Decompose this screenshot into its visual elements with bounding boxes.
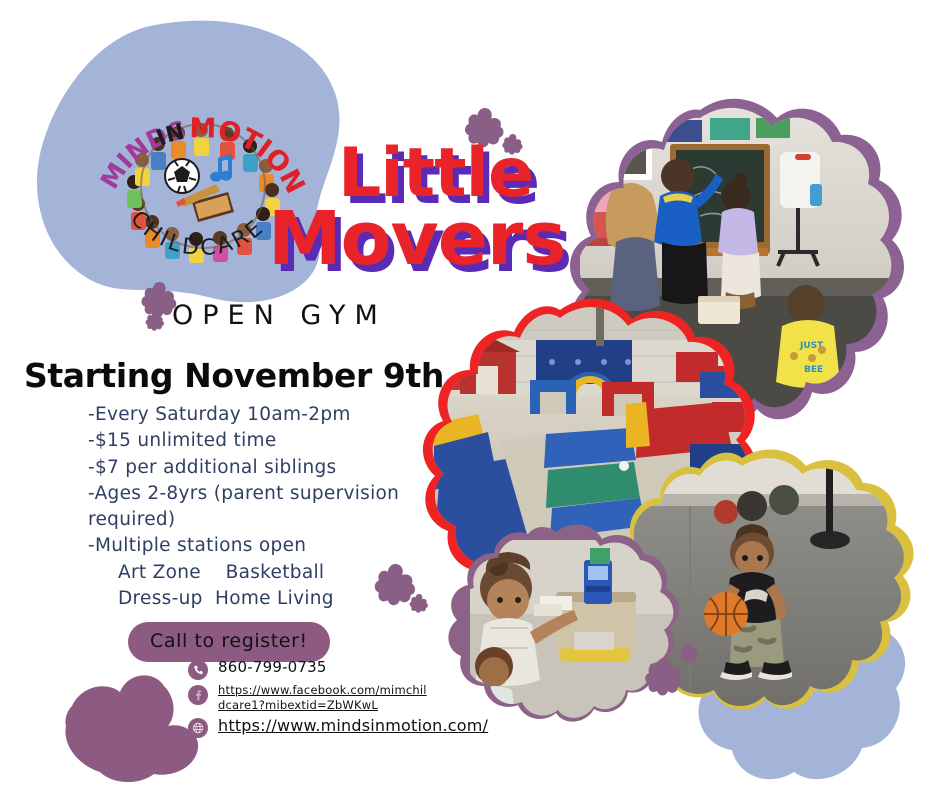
page-title-starting-date: Starting November 9th xyxy=(24,356,444,395)
contact-row-phone[interactable]: 860-799-0735 xyxy=(188,658,518,680)
svg-text:BEE: BEE xyxy=(804,365,823,375)
logo-center-icons xyxy=(165,154,234,222)
website-url[interactable]: https://www.mindsinmotion.com/ xyxy=(218,716,488,736)
background-blob-bottom-left xyxy=(65,675,198,782)
station-line: Art Zone Basketball xyxy=(88,560,428,586)
contact-row-website[interactable]: https://www.mindsinmotion.com/ xyxy=(188,716,518,738)
detail-line: -Ages 2-8yrs (parent supervision xyxy=(88,481,428,507)
facebook-url[interactable]: https://www.facebook.com/mimchildcare1?m… xyxy=(218,683,433,713)
phone-number: 860-799-0735 xyxy=(218,658,327,677)
title-line-movers: Movers xyxy=(268,202,565,276)
facebook-icon xyxy=(188,685,208,705)
contact-row-facebook[interactable]: https://www.facebook.com/mimchildcare1?m… xyxy=(188,683,518,713)
globe-icon xyxy=(188,718,208,738)
contact-list: 860-799-0735 https://www.facebook.com/mi… xyxy=(188,658,518,741)
station-line: Dress-up Home Living xyxy=(88,586,428,612)
detail-line: -$15 unlimited time xyxy=(88,428,428,454)
call-to-register-button[interactable]: Call to register! xyxy=(128,622,330,662)
detail-line: -$7 per additional siblings xyxy=(88,455,428,481)
subtitle-open-gym: OPEN GYM xyxy=(172,300,387,331)
phone-icon xyxy=(188,660,208,680)
flyer-canvas: JUST BEE xyxy=(0,0,940,788)
flyer-title: Little Movers xyxy=(268,140,598,310)
detail-line: required) xyxy=(88,507,428,533)
details-list: -Every Saturday 10am-2pm -$15 unlimited … xyxy=(88,402,428,612)
detail-line: -Multiple stations open xyxy=(88,533,428,559)
detail-line: -Every Saturday 10am-2pm xyxy=(88,402,428,428)
